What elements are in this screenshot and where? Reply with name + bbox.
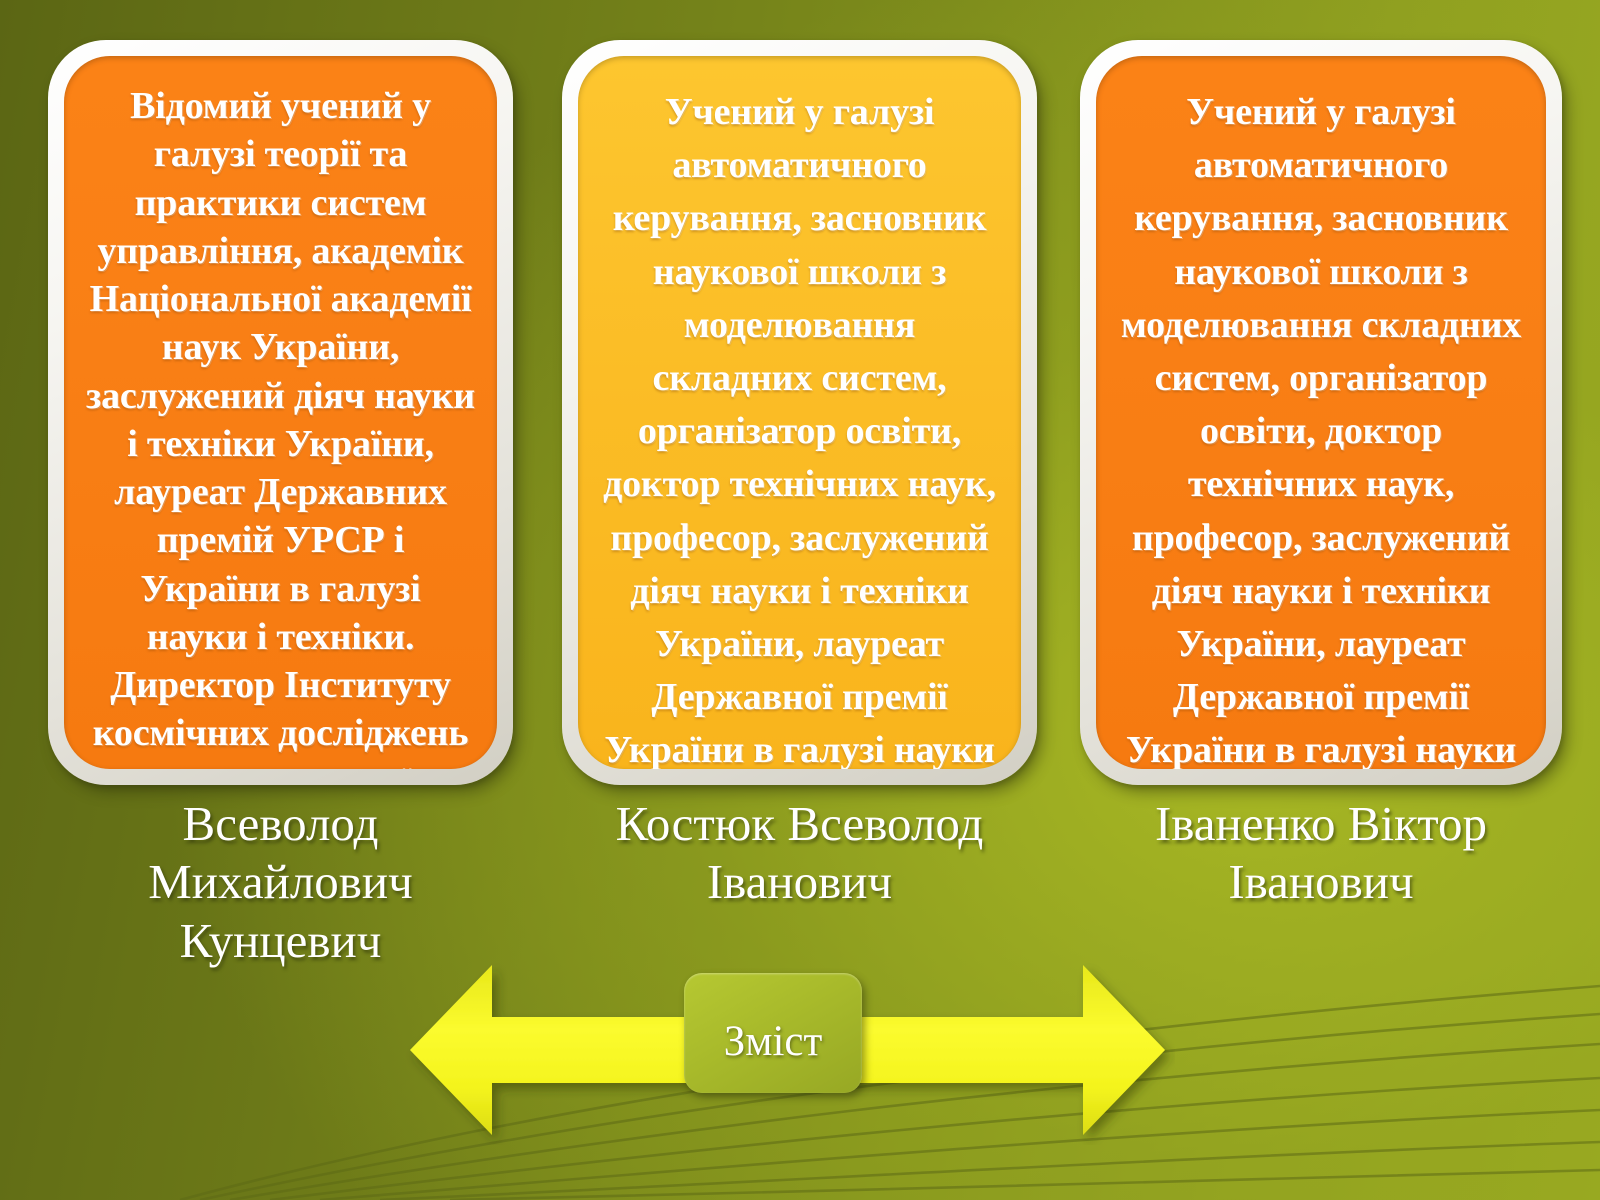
slide-canvas: Відомий учений у галузі теорії та практи…: [0, 0, 1600, 1200]
card-frame: Учений у галузі автоматичного керування,…: [562, 40, 1037, 785]
card-surface: Учений у галузі автоматичного керування,…: [1096, 56, 1546, 769]
card-surface: Учений у галузі автоматичного керування,…: [578, 56, 1021, 769]
profile-name-2: Іваненко Віктор Іванович: [1080, 795, 1562, 912]
card-surface: Відомий учений у галузі теорії та практи…: [64, 56, 497, 769]
profile-name-0: Всеволод Михайлович Кунцевич: [48, 795, 513, 970]
toc-button-label: Зміст: [724, 1004, 823, 1063]
profile-name-1: Костюк Всеволод Іванович: [562, 795, 1037, 912]
profile-card-2[interactable]: Учений у галузі автоматичного керування,…: [1080, 40, 1562, 785]
navigation-group: Зміст: [400, 945, 1175, 1145]
card-body-text: Відомий учений у галузі теорії та практи…: [64, 56, 497, 769]
profile-cards-row: Відомий учений у галузі теорії та практи…: [0, 0, 1600, 790]
card-frame: Учений у галузі автоматичного керування,…: [1080, 40, 1562, 785]
card-body-text: Учений у галузі автоматичного керування,…: [578, 56, 1021, 769]
card-frame: Відомий учений у галузі теорії та практи…: [48, 40, 513, 785]
profile-card-1[interactable]: Учений у галузі автоматичного керування,…: [562, 40, 1037, 785]
table-of-contents-button[interactable]: Зміст: [684, 973, 862, 1093]
card-body-text: Учений у галузі автоматичного керування,…: [1096, 56, 1546, 769]
profile-card-0[interactable]: Відомий учений у галузі теорії та практи…: [48, 40, 513, 785]
